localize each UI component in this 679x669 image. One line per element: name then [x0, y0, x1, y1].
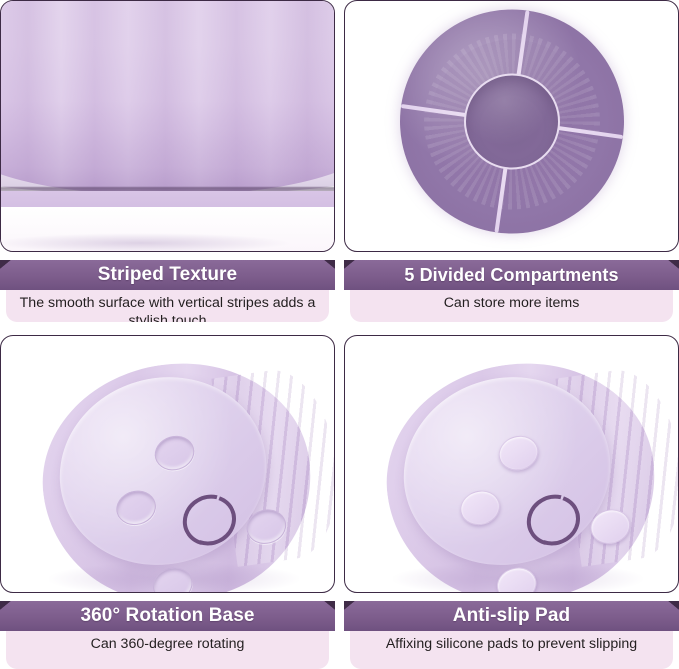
panel-title: Striped Texture — [98, 264, 237, 286]
silicone-pad-2 — [456, 486, 504, 530]
bowl-shading — [0, 101, 335, 195]
pad-well-1 — [151, 431, 199, 475]
panel-description: The smooth surface with vertical stripes… — [12, 294, 323, 322]
title-ribbon: 5 Divided Compartments — [344, 260, 679, 290]
striped-bowl-illustration — [1, 1, 334, 251]
compartments-illustration — [345, 1, 678, 251]
feature-grid: Striped Texture The smooth surface with … — [0, 0, 679, 669]
organizer-outer-bowl — [400, 10, 624, 234]
title-ribbon: 360° Rotation Base — [0, 601, 335, 631]
product-photo-rotation-base — [0, 335, 335, 593]
center-compartment — [464, 74, 560, 170]
pad-well-2 — [112, 486, 160, 530]
product-photo-striped-texture — [0, 0, 335, 252]
feature-panel-divided-compartments: 5 Divided Compartments Can store more it… — [344, 0, 679, 322]
column-gutter — [335, 335, 344, 669]
feature-panel-anti-slip-pad: Anti-slip Pad Affixing silicone pads to … — [344, 335, 679, 669]
feature-panel-rotation-base: 360° Rotation Base Can 360-degree rotati… — [0, 335, 335, 669]
contact-shadow — [0, 233, 291, 252]
anti-slip-illustration — [345, 336, 678, 592]
caption-block-anti-slip-pad: Anti-slip Pad Affixing silicone pads to … — [344, 599, 679, 669]
rotation-base-illustration — [1, 336, 334, 592]
caption-block-divided-compartments: 5 Divided Compartments Can store more it… — [344, 258, 679, 322]
caption-block-rotation-base: 360° Rotation Base Can 360-degree rotati… — [0, 599, 335, 669]
panel-description: Can store more items — [356, 294, 667, 312]
title-ribbon: Anti-slip Pad — [344, 601, 679, 631]
product-photo-anti-slip-pad — [344, 335, 679, 593]
product-photo-divided-compartments — [344, 0, 679, 252]
panel-title: 360° Rotation Base — [80, 605, 254, 627]
panel-title: 5 Divided Compartments — [404, 265, 618, 286]
title-ribbon: Striped Texture — [0, 260, 335, 290]
feature-panel-striped-texture: Striped Texture The smooth surface with … — [0, 0, 335, 322]
silicone-pad-1 — [495, 431, 543, 475]
panel-title: Anti-slip Pad — [453, 605, 570, 627]
column-gutter — [335, 0, 344, 322]
row-gutter — [0, 322, 679, 335]
panel-description: Can 360-degree rotating — [12, 635, 323, 653]
panel-description: Affixing silicone pads to prevent slippi… — [356, 635, 667, 653]
caption-block-striped-texture: Striped Texture The smooth surface with … — [0, 258, 335, 322]
